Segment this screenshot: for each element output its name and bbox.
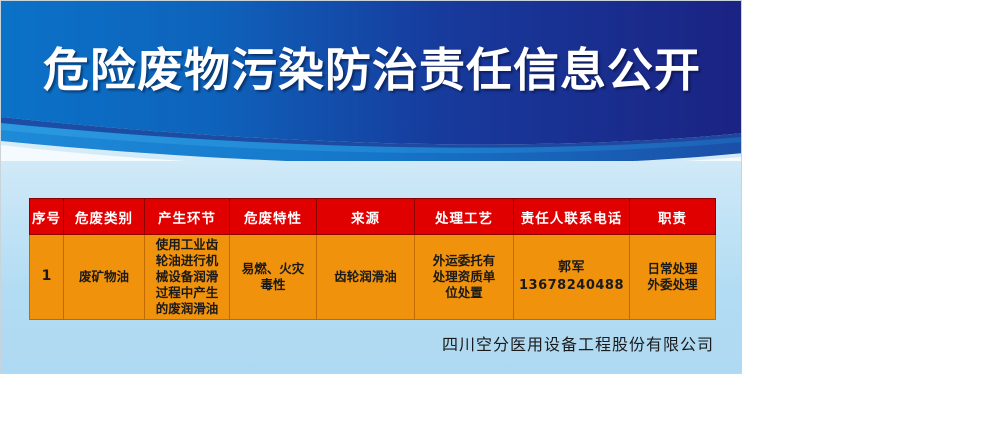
column-header-index: 序号 bbox=[30, 199, 64, 235]
column-header-treatment: 处理工艺 bbox=[415, 199, 514, 235]
column-header-category: 危废类别 bbox=[64, 199, 145, 235]
cell-contact: 郭军 13678240488 bbox=[514, 235, 630, 320]
poster-banner: 危险废物污染防治责任信息公开 bbox=[1, 1, 742, 161]
table-row: 1 废矿物油 使用工业齿 轮油进行机 械设备润滑 过程中产生 的废润滑油 易燃、… bbox=[30, 235, 716, 320]
company-name: 四川空分医用设备工程股份有限公司 bbox=[1, 331, 714, 355]
column-header-characteristics: 危废特性 bbox=[230, 199, 317, 235]
column-header-duty: 职责 bbox=[630, 199, 716, 235]
hazardous-waste-table-wrap: 序号 危废类别 产生环节 危废特性 来源 处理工艺 责任人联系电话 职责 1 废… bbox=[29, 198, 715, 320]
hazardous-waste-table: 序号 危废类别 产生环节 危废特性 来源 处理工艺 责任人联系电话 职责 1 废… bbox=[29, 198, 716, 320]
column-header-source: 来源 bbox=[317, 199, 415, 235]
cell-index: 1 bbox=[30, 235, 64, 320]
cell-treatment: 外运委托有 处理资质单 位处置 bbox=[415, 235, 514, 320]
information-disclosure-poster: 危险废物污染防治责任信息公开 序号 危废类别 产生环节 危废特性 来源 处理工艺… bbox=[0, 0, 742, 374]
column-header-contact: 责任人联系电话 bbox=[514, 199, 630, 235]
cell-characteristics: 易燃、火灾 毒性 bbox=[230, 235, 317, 320]
cell-generation-stage: 使用工业齿 轮油进行机 械设备润滑 过程中产生 的废润滑油 bbox=[145, 235, 230, 320]
table-header-row: 序号 危废类别 产生环节 危废特性 来源 处理工艺 责任人联系电话 职责 bbox=[30, 199, 716, 235]
page-title: 危险废物污染防治责任信息公开 bbox=[1, 47, 742, 93]
column-header-stage: 产生环节 bbox=[145, 199, 230, 235]
cell-duty: 日常处理 外委处理 bbox=[630, 235, 716, 320]
cell-category: 废矿物油 bbox=[64, 235, 145, 320]
cell-source: 齿轮润滑油 bbox=[317, 235, 415, 320]
